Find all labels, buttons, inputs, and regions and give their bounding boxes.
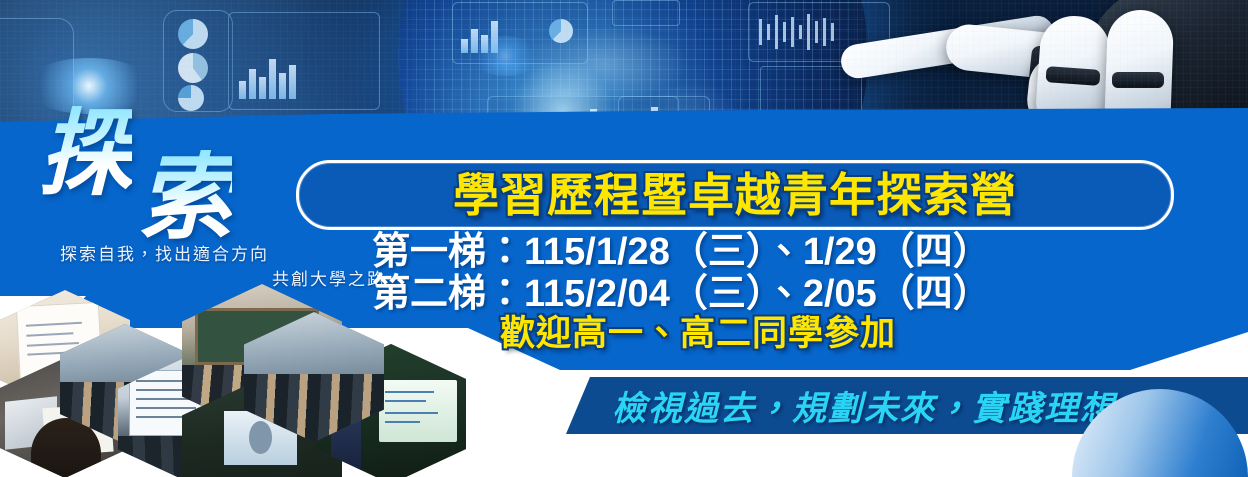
upload-icon-hud <box>612 0 680 26</box>
bar-group-left <box>239 53 296 99</box>
brand-char-tan: 探 <box>38 106 132 202</box>
robot-palm <box>1088 0 1248 124</box>
robot-index-knuckle <box>977 26 998 64</box>
pie-icon-1 <box>178 19 208 49</box>
robot-pinky-knuckle <box>1112 72 1164 88</box>
event-title-text: 學習歷程暨卓越青年探索營 <box>453 172 1017 218</box>
speaker-face-graphic <box>249 421 273 454</box>
bar-chart-hud-left <box>228 12 380 110</box>
candle-group <box>759 11 834 53</box>
tagline-line-1: 探索自我，找出適合方向 <box>60 245 269 264</box>
candlestick-hud <box>748 2 890 62</box>
pie-icon-2 <box>178 53 208 83</box>
light-flare-mid <box>470 36 540 76</box>
event-title-pill: 學習歷程暨卓越青年探索營 <box>296 160 1174 230</box>
pie-icon-center <box>549 19 573 43</box>
brand-char-suo: 索 <box>138 150 232 246</box>
bar-group-center <box>461 17 498 53</box>
photo-collage <box>0 286 514 477</box>
robot-middle-finger <box>944 22 1098 83</box>
session-date-1: 第一梯：115/1/28（三）、1/29（四） <box>372 232 1172 274</box>
robot-ring-knuckle <box>1046 66 1101 86</box>
robot-middle-knuckle <box>1028 45 1051 93</box>
slogan-text: 檢視過去，規劃未來，實踐理想 <box>612 381 1116 430</box>
brand-word-tansuo: 探 索 <box>38 106 348 236</box>
bar-chart-hud-center <box>452 2 588 64</box>
welcome-line: 歡迎高一、高二同學參加 <box>500 316 1160 351</box>
tagline-block: 探索自我，找出適合方向 共創大學之路 <box>60 243 390 292</box>
promo-banner: 探 索 探索自我，找出適合方向 共創大學之路 學習歷程暨卓越青年探索營 第一梯：… <box>0 0 1248 477</box>
pie-chart-hud <box>163 10 233 112</box>
robot-index-finger <box>839 13 1057 80</box>
presentation-slide <box>379 380 457 442</box>
